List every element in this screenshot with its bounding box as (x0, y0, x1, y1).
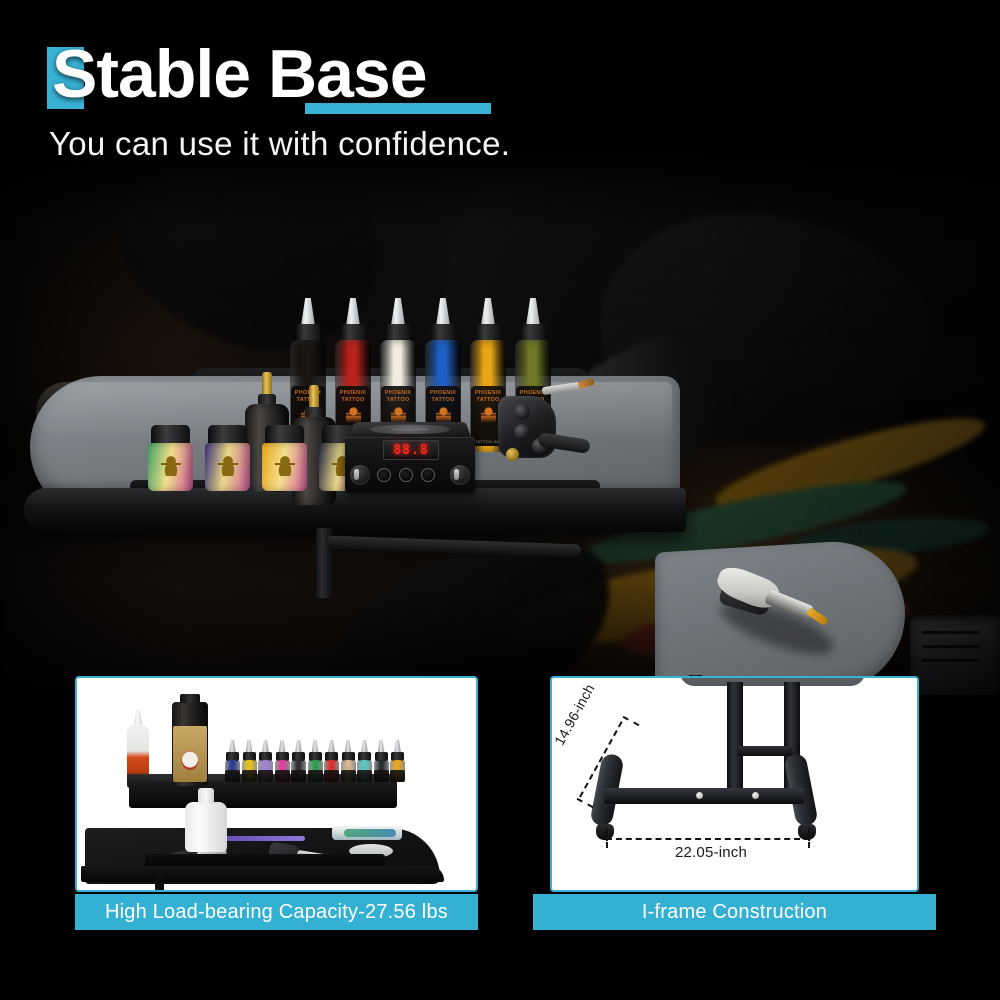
panel-photo-load-bearing (75, 676, 478, 892)
depth-dimension-label: 14.96-inch (551, 681, 598, 748)
panel-caption-i-frame: I-frame Construction (533, 894, 936, 930)
white-wash-bottle (185, 802, 227, 852)
bottle-face-graphic (182, 751, 199, 770)
brand-logo-icon (369, 425, 452, 434)
tattoo-machine-icon (492, 378, 597, 478)
feature-panel-i-frame: 14.96-inch 22.05-inch I-frame Constructi… (533, 676, 936, 930)
panel-desk-leg (155, 878, 164, 892)
frame-base-beam (604, 788, 804, 804)
ink-pot (205, 425, 250, 491)
orange-squeeze-bottle (127, 722, 149, 788)
table-front-lip (24, 488, 686, 532)
feature-panel-load-bearing: High Load-bearing Capacity-27.56 lbs (75, 676, 478, 930)
crest-emblem-icon (275, 456, 295, 476)
pot-jar (148, 443, 193, 491)
gold-tip-icon (262, 372, 272, 396)
panel-caption-text: High Load-bearing Capacity-27.56 lbs (105, 901, 448, 924)
large-black-bottle (172, 702, 208, 786)
power-supply-front-panel: 88.8 (345, 437, 475, 493)
table-underside (680, 676, 865, 686)
panel-desk-lip (81, 866, 444, 882)
pot-lid (208, 425, 247, 445)
pot-lid (151, 425, 190, 445)
pot-jar (205, 443, 250, 491)
frame-column-left (727, 682, 743, 794)
ointment-tube (332, 826, 402, 840)
panel-photo-i-frame: 14.96-inch 22.05-inch (550, 676, 919, 892)
crest-emblem-icon (161, 456, 181, 476)
jack-port[interactable] (421, 468, 435, 482)
headline-block: Stable Base You can use it with confiden… (0, 0, 1000, 175)
i-frame-diagram: 14.96-inch 22.05-inch (552, 678, 917, 890)
pot-lid (265, 425, 304, 445)
width-dimension-line (606, 838, 810, 840)
frame-crossbar (737, 746, 793, 756)
crest-emblem-icon (218, 456, 238, 476)
panel-caption-load-bearing: High Load-bearing Capacity-27.56 lbs (75, 894, 478, 930)
marketing-image-root: PHOENIX TATTOOTATTOO INKPHOENIX TATTOOTA… (0, 0, 1000, 1000)
ink-pot (262, 425, 307, 491)
page-title: Stable Base (52, 40, 427, 108)
jack-port[interactable] (399, 468, 413, 482)
led-display: 88.8 (383, 440, 439, 460)
led-display-value: 88.8 (393, 444, 428, 457)
jack-port[interactable] (377, 468, 391, 482)
pot-jar (262, 443, 307, 491)
voltage-knob[interactable] (350, 465, 370, 485)
power-supply-unit: 88.8 (345, 415, 475, 493)
secondary-tray-table (655, 545, 905, 695)
panel-caption-text: I-frame Construction (642, 901, 827, 924)
width-dimension-label: 22.05-inch (636, 844, 786, 861)
gold-tip-icon (309, 385, 319, 409)
bottle-label-wrap (173, 726, 207, 782)
ink-pot (148, 425, 193, 491)
mode-knob[interactable] (450, 465, 470, 485)
page-subtitle: You can use it with confidence. (49, 125, 510, 163)
